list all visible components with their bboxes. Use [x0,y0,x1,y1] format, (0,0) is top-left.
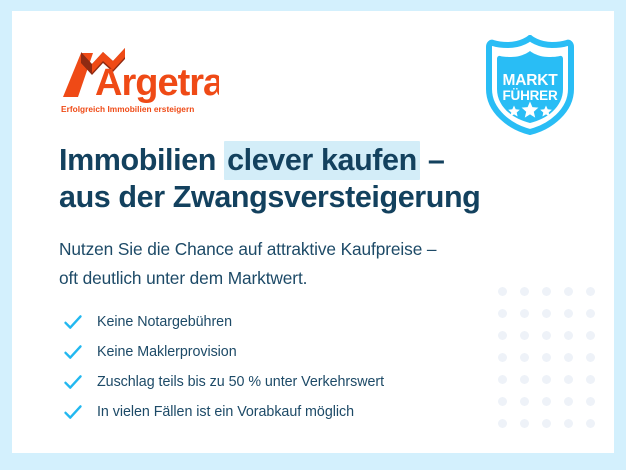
dot [520,419,529,428]
check-icon [62,401,84,423]
dot [542,419,551,428]
headline-part1: Immobilien [59,143,224,177]
dot [586,419,595,428]
dot [586,287,595,296]
dot [520,353,529,362]
dot [498,353,507,362]
check-icon [62,311,84,333]
dot [586,309,595,318]
dot [498,397,507,406]
dot [520,287,529,296]
dot [586,375,595,384]
dot [498,375,507,384]
logo-tagline: Erfolgreich Immobilien ersteigern [61,104,194,114]
check-icon [62,371,84,393]
subtitle-line1: Nutzen Sie die Chance auf attraktive Kau… [59,239,436,259]
badge-line1: MARKT [503,72,559,89]
dot [586,331,595,340]
dot [542,309,551,318]
benefits-list: Keine Notargebühren Keine Maklerprovisio… [62,307,384,427]
svg-text:Argetra: Argetra [95,62,219,103]
list-item: Keine Notargebühren [62,307,384,337]
check-icon [62,341,84,363]
markt-fuehrer-badge: MARKT FÜHRER [482,35,578,135]
dot [586,397,595,406]
dot [564,419,573,428]
badge-line2: FÜHRER [502,88,557,103]
dot [542,331,551,340]
subtitle-line2: oft deutlich unter dem Marktwert. [59,268,307,288]
dot [520,397,529,406]
headline-highlight: clever kaufen [224,141,420,180]
dot [564,287,573,296]
dot [520,375,529,384]
list-item-label: Keine Maklerprovision [97,344,237,360]
shield-icon: MARKT FÜHRER [482,35,578,135]
list-item-label: Zuschlag teils bis zu 50 % unter Verkehr… [97,374,384,390]
dot [564,375,573,384]
dot [564,397,573,406]
headline-line2: aus der Zwangsversteigerung [59,180,480,214]
dot [586,353,595,362]
dot [564,353,573,362]
list-item-label: In vielen Fällen ist ein Vorabkauf mögli… [97,404,354,420]
dot [520,331,529,340]
page-title: Immobilien clever kaufen – aus der Zwang… [59,142,480,216]
dot [498,419,507,428]
dot [542,287,551,296]
promo-banner: Argetra Erfolgreich Immobilien ersteiger… [0,0,626,470]
list-item: Keine Maklerprovision [62,337,384,367]
dot [542,375,551,384]
subtitle: Nutzen Sie die Chance auf attraktive Kau… [59,235,436,293]
banner-canvas: Argetra Erfolgreich Immobilien ersteiger… [12,11,614,453]
list-item: In vielen Fällen ist ein Vorabkauf mögli… [62,397,384,427]
dot [520,309,529,318]
dot [564,331,573,340]
dot [498,331,507,340]
dot [542,353,551,362]
dot-grid-decoration [498,287,608,441]
list-item: Zuschlag teils bis zu 50 % unter Verkehr… [62,367,384,397]
dot [542,397,551,406]
dot [564,309,573,318]
headline-part2: – [420,143,445,177]
list-item-label: Keine Notargebühren [97,314,232,330]
argetra-logo-mark: Argetra [59,45,219,103]
argetra-logo[interactable]: Argetra Erfolgreich Immobilien ersteiger… [59,45,219,103]
dot [498,309,507,318]
dot [498,287,507,296]
